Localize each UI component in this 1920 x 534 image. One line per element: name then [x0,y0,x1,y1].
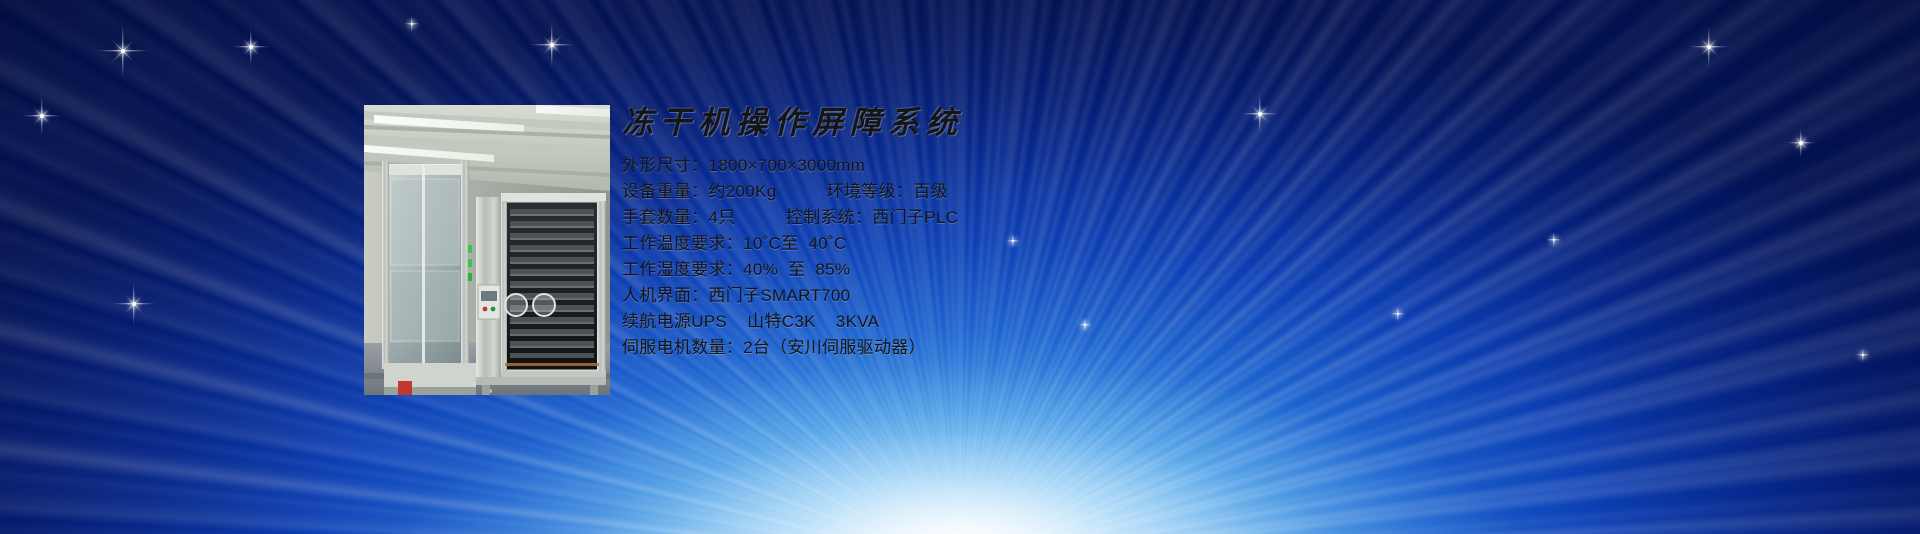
spec-row: 手套数量：4只 控制系统：西门子PLC [622,205,1322,231]
spec-row: 外形尺寸：1800×700×3000mm [622,153,1322,179]
page-title: 冻干机操作屏障系统 [622,104,1322,143]
spec-row: 工作温度要求：10˚C至 40˚C [622,231,1322,257]
spec-row: 续航电源UPS 山特C3K 3KVA [622,309,1322,335]
banner-stage: 冻干机操作屏障系统 外形尺寸：1800×700×3000mm 设备重量：约200… [0,0,1920,534]
spec-row: 人机界面：西门子SMART700 [622,283,1322,309]
spec-row: 伺服电机数量：2台（安川伺服驱动器） [622,335,1322,361]
product-photo [364,105,610,395]
spec-row: 工作湿度要求：40% 至 85% [622,257,1322,283]
banner-content: 冻干机操作屏障系统 外形尺寸：1800×700×3000mm 设备重量：约200… [622,104,1322,361]
spec-list: 外形尺寸：1800×700×3000mm 设备重量：约200Kg 环境等级：百级… [622,153,1322,361]
spec-row: 设备重量：约200Kg 环境等级：百级 [622,179,1322,205]
